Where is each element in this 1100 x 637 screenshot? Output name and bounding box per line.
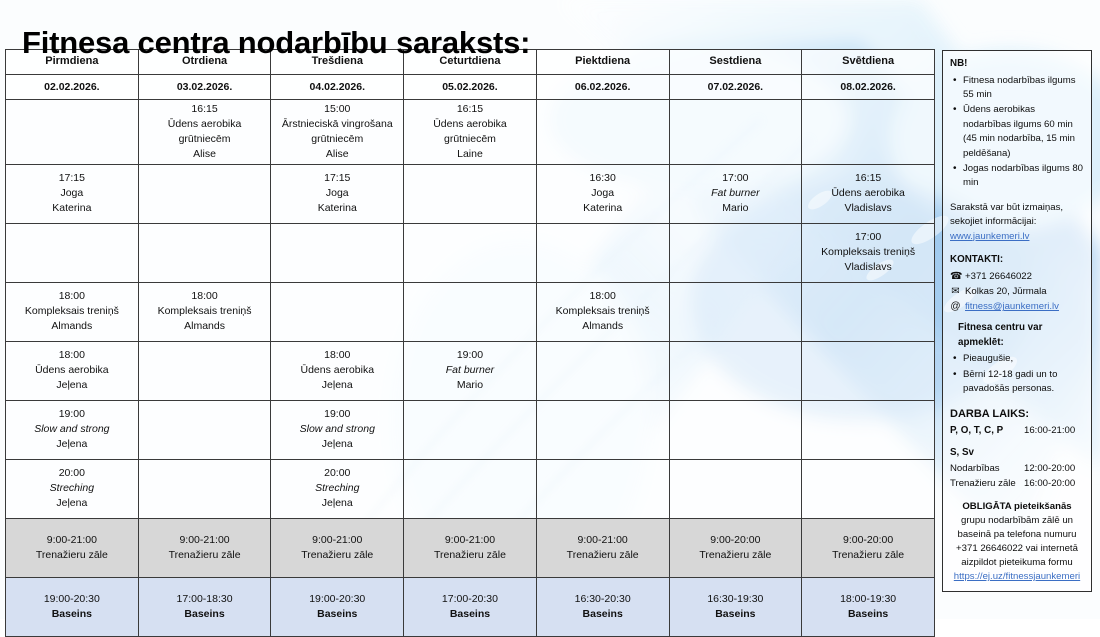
- website-link[interactable]: www.jaunkemeri.lv: [950, 231, 1029, 242]
- class-time: 15:00: [273, 102, 401, 117]
- empty-cell: [802, 400, 935, 459]
- gym-hours-cell: 9:00-21:00Trenažieru zāle: [404, 518, 537, 577]
- class-trainer: Jeļena: [8, 378, 136, 393]
- class-trainer: Almands: [8, 319, 136, 334]
- gym-hours-cell: 9:00-20:00Trenažieru zāle: [802, 518, 935, 577]
- contact-email: @ fitness@jaunkemeri.lv: [950, 300, 1084, 314]
- class-cell: 16:15Ūdens aerobikagrūtniecēmLaine: [404, 100, 537, 165]
- visit-item: Bērni 12-18 gadi un to pavadošās persona…: [950, 368, 1084, 397]
- class-name: Slow and strong: [273, 422, 401, 437]
- hours-weekend-gym: Trenažieru zāle 16:00-20:00: [950, 477, 1084, 491]
- hours-weekend-classes: Nodarbības 12:00-20:00: [950, 462, 1084, 476]
- class-cell: 15:00Ārstnieciskā vingrošanagrūtniecēmAl…: [271, 100, 404, 165]
- facility-label: Trenažieru zāle: [672, 548, 800, 563]
- empty-cell: [6, 223, 139, 282]
- date-cell: 07.02.2026.: [669, 75, 802, 100]
- class-cell: 20:00StrechingJeļena: [6, 459, 139, 518]
- page-title: Fitnesa centra nodarbību saraksts:: [22, 25, 530, 61]
- pool-hours-cell: 17:00-18:30Baseins: [138, 577, 271, 636]
- class-time: 18:00: [8, 348, 136, 363]
- class-trainer: Vladislavs: [804, 201, 932, 216]
- empty-cell: [536, 100, 669, 165]
- class-time: 16:15: [141, 102, 269, 117]
- class-time: 16:15: [804, 171, 932, 186]
- class-name: Ārstnieciskā vingrošana: [273, 117, 401, 132]
- visit-list: Pieaugušie, Bērni 12-18 gadi un to pavad…: [950, 352, 1084, 396]
- schedule-table: Pirmdiena Otrdiena Trešdiena Ceturtdiena…: [5, 49, 935, 637]
- class-cell: 19:00Slow and strongJeļena: [6, 400, 139, 459]
- empty-cell: [802, 459, 935, 518]
- class-trainer: Jeļena: [273, 496, 401, 511]
- empty-cell: [802, 341, 935, 400]
- facility-time: 9:00-21:00: [406, 533, 534, 548]
- date-cell: 03.02.2026.: [138, 75, 271, 100]
- nb-item: Jogas nodarbības ilgums 80 min: [950, 162, 1084, 191]
- class-name: Ūdens aerobika: [273, 363, 401, 378]
- contact-phone: ☎ +371 26646022: [950, 270, 1084, 284]
- gym-hours-cell: 9:00-21:00Trenažieru zāle: [536, 518, 669, 577]
- facility-time: 19:00-20:30: [273, 592, 401, 607]
- class-trainer: Alise: [141, 147, 269, 162]
- class-cell: 16:30JogaKaterina: [536, 164, 669, 223]
- class-cell: 16:15Ūdens aerobikaVladislavs: [802, 164, 935, 223]
- class-cell: 18:00Ūdens aerobikaJeļena: [6, 341, 139, 400]
- class-time: 17:00: [672, 171, 800, 186]
- facility-label: Baseins: [406, 607, 534, 622]
- empty-cell: [802, 100, 935, 165]
- hours-weekend-gym-value: 16:00-20:00: [1024, 477, 1075, 491]
- booking-note-rest: grupu nodarbībām zālē un baseinā pa tele…: [956, 515, 1078, 568]
- schedule-slot-row: 20:00StrechingJeļena20:00StrechingJeļena: [6, 459, 935, 518]
- class-cell: 16:15Ūdens aerobikagrūtniecēmAlise: [138, 100, 271, 165]
- at-icon: @: [950, 300, 961, 314]
- facility-label: Baseins: [8, 607, 136, 622]
- class-time: 17:15: [8, 171, 136, 186]
- gym-hours-cell: 9:00-21:00Trenažieru zāle: [271, 518, 404, 577]
- class-name: Kompleksais treniņš: [8, 304, 136, 319]
- class-time: 17:15: [273, 171, 401, 186]
- class-name: Fat burner: [672, 186, 800, 201]
- gym-hours-cell: 9:00-21:00Trenažieru zāle: [138, 518, 271, 577]
- facility-label: Baseins: [804, 607, 932, 622]
- class-cell: 17:00Kompleksais treniņšVladislavs: [802, 223, 935, 282]
- class-name: Streching: [8, 481, 136, 496]
- gym-hours-row: 9:00-21:00Trenažieru zāle9:00-21:00Trena…: [6, 518, 935, 577]
- hours-weekday-value: 16:00-21:00: [1024, 424, 1075, 441]
- nb-heading: NB!: [950, 57, 1084, 72]
- facility-time: 16:30-20:30: [539, 592, 667, 607]
- facility-label: Trenažieru zāle: [273, 548, 401, 563]
- empty-cell: [404, 164, 537, 223]
- empty-cell: [669, 282, 802, 341]
- date-cell: 05.02.2026.: [404, 75, 537, 100]
- empty-cell: [669, 400, 802, 459]
- facility-time: 17:00-20:30: [406, 592, 534, 607]
- hours-weekend-classes-value: 12:00-20:00: [1024, 462, 1075, 476]
- empty-cell: [802, 282, 935, 341]
- phone-icon: ☎: [950, 270, 961, 284]
- facility-time: 9:00-20:00: [804, 533, 932, 548]
- nb-list: Fitnesa nodarbības ilgums 55 min Ūdens a…: [950, 74, 1084, 191]
- empty-cell: [271, 282, 404, 341]
- contacts-heading: KONTAKTI:: [950, 253, 1084, 268]
- hours-heading: DARBA LAIKS:: [950, 406, 1084, 423]
- phone-number: +371 26646022: [965, 270, 1032, 284]
- facility-label: Trenažieru zāle: [539, 548, 667, 563]
- empty-cell: [536, 223, 669, 282]
- nb-item: Ūdens aerobikas nodarbības ilgums 60 min…: [950, 103, 1084, 161]
- class-name: Kompleksais treniņš: [539, 304, 667, 319]
- date-row: 02.02.2026. 03.02.2026. 04.02.2026. 05.0…: [6, 75, 935, 100]
- facility-label: Baseins: [141, 607, 269, 622]
- class-name: Fat burner: [406, 363, 534, 378]
- class-cell: 17:15JogaKaterina: [271, 164, 404, 223]
- class-name: Ūdens aerobika: [141, 117, 269, 132]
- pool-hours-cell: 16:30-19:30Baseins: [669, 577, 802, 636]
- schedule-slot-row: 19:00Slow and strongJeļena19:00Slow and …: [6, 400, 935, 459]
- empty-cell: [536, 400, 669, 459]
- class-cell: 18:00Kompleksais treniņšAlmands: [6, 282, 139, 341]
- pool-hours-cell: 16:30-20:30Baseins: [536, 577, 669, 636]
- day-header-svetdiena: Svētdiena: [802, 50, 935, 75]
- class-trainer: Mario: [406, 378, 534, 393]
- class-name: Ūdens aerobika: [804, 186, 932, 201]
- class-trainer: Jeļena: [273, 437, 401, 452]
- class-trainer: Laine: [406, 147, 534, 162]
- empty-cell: [669, 100, 802, 165]
- class-name-line2: grūtniecēm: [273, 132, 401, 147]
- class-time: 19:00: [8, 407, 136, 422]
- date-cell: 02.02.2026.: [6, 75, 139, 100]
- facility-time: 16:30-19:30: [672, 592, 800, 607]
- class-cell: 19:00Fat burnerMario: [404, 341, 537, 400]
- facility-time: 9:00-21:00: [273, 533, 401, 548]
- schedule-slot-row: 18:00Ūdens aerobikaJeļena18:00Ūdens aero…: [6, 341, 935, 400]
- pool-hours-cell: 17:00-20:30Baseins: [404, 577, 537, 636]
- class-name: Slow and strong: [8, 422, 136, 437]
- class-trainer: Katerina: [273, 201, 401, 216]
- facility-label: Trenažieru zāle: [8, 548, 136, 563]
- email-link[interactable]: fitness@jaunkemeri.lv: [965, 300, 1059, 314]
- class-time: 18:00: [141, 289, 269, 304]
- class-name-line2: grūtniecēm: [141, 132, 269, 147]
- class-time: 19:00: [406, 348, 534, 363]
- class-name: Ūdens aerobika: [8, 363, 136, 378]
- schedule-body: 16:15Ūdens aerobikagrūtniecēmAlise15:00Ā…: [6, 100, 935, 637]
- changes-note-text: Sarakstā var būt izmaiņas, sekojiet info…: [950, 202, 1063, 227]
- gym-hours-cell: 9:00-21:00Trenažieru zāle: [6, 518, 139, 577]
- empty-cell: [669, 459, 802, 518]
- empty-cell: [536, 341, 669, 400]
- empty-cell: [271, 223, 404, 282]
- empty-cell: [138, 459, 271, 518]
- class-time: 18:00: [8, 289, 136, 304]
- hours-weekend-classes-label: Nodarbības: [950, 462, 1024, 476]
- class-trainer: Jeļena: [273, 378, 401, 393]
- empty-cell: [669, 223, 802, 282]
- class-cell: 18:00Kompleksais treniņšAlmands: [536, 282, 669, 341]
- class-trainer: Vladislavs: [804, 260, 932, 275]
- pool-hours-cell: 18:00-19:30Baseins: [802, 577, 935, 636]
- class-cell: 18:00Kompleksais treniņšAlmands: [138, 282, 271, 341]
- empty-cell: [404, 400, 537, 459]
- booking-form-link[interactable]: https://ej.uz/fitnessjaunkemeri: [954, 571, 1080, 582]
- class-trainer: Jeļena: [8, 496, 136, 511]
- facility-label: Baseins: [539, 607, 667, 622]
- empty-cell: [138, 341, 271, 400]
- empty-cell: [404, 223, 537, 282]
- class-time: 16:15: [406, 102, 534, 117]
- class-trainer: Mario: [672, 201, 800, 216]
- class-name: Joga: [273, 186, 401, 201]
- class-time: 17:00: [804, 230, 932, 245]
- class-cell: 17:15JogaKaterina: [6, 164, 139, 223]
- date-cell: 04.02.2026.: [271, 75, 404, 100]
- empty-cell: [138, 223, 271, 282]
- facility-time: 19:00-20:30: [8, 592, 136, 607]
- schedule-slot-row: 17:00Kompleksais treniņšVladislavs: [6, 223, 935, 282]
- nb-item: Fitnesa nodarbības ilgums 55 min: [950, 74, 1084, 103]
- pool-hours-row: 19:00-20:30Baseins17:00-18:30Baseins19:0…: [6, 577, 935, 636]
- class-name: Kompleksais treniņš: [141, 304, 269, 319]
- empty-cell: [404, 282, 537, 341]
- facility-label: Trenažieru zāle: [804, 548, 932, 563]
- class-trainer: Katerina: [8, 201, 136, 216]
- empty-cell: [138, 164, 271, 223]
- hours-weekend-label: S, Sv: [950, 446, 1084, 461]
- class-name: Streching: [273, 481, 401, 496]
- class-name: Joga: [8, 186, 136, 201]
- class-trainer: Jeļena: [8, 437, 136, 452]
- class-name-line2: grūtniecēm: [406, 132, 534, 147]
- empty-cell: [536, 459, 669, 518]
- class-cell: 18:00Ūdens aerobikaJeļena: [271, 341, 404, 400]
- class-time: 16:30: [539, 171, 667, 186]
- facility-time: 9:00-21:00: [539, 533, 667, 548]
- hours-weekend-gym-label: Trenažieru zāle: [950, 477, 1024, 491]
- facility-label: Trenažieru zāle: [141, 548, 269, 563]
- envelope-icon: ✉: [950, 285, 961, 299]
- empty-cell: [138, 400, 271, 459]
- class-cell: 19:00Slow and strongJeļena: [271, 400, 404, 459]
- date-cell: 06.02.2026.: [536, 75, 669, 100]
- facility-time: 9:00-20:00: [672, 533, 800, 548]
- facility-time: 17:00-18:30: [141, 592, 269, 607]
- hours-weekday-label: P, O, T, C, P: [950, 424, 1024, 439]
- address-text: Kolkas 20, Jūrmala: [965, 285, 1047, 299]
- class-trainer: Almands: [141, 319, 269, 334]
- info-panel: NB! Fitnesa nodarbības ilgums 55 min Ūde…: [942, 50, 1092, 592]
- empty-cell: [669, 341, 802, 400]
- visit-item: Pieaugušie,: [950, 352, 1084, 366]
- schedule-slot-row: 16:15Ūdens aerobikagrūtniecēmAlise15:00Ā…: [6, 100, 935, 165]
- class-name: Kompleksais treniņš: [804, 245, 932, 260]
- schedule-slot-row: 17:15JogaKaterina17:15JogaKaterina16:30J…: [6, 164, 935, 223]
- facility-time: 9:00-21:00: [141, 533, 269, 548]
- class-trainer: Almands: [539, 319, 667, 334]
- day-header-sestdiena: Sestdiena: [669, 50, 802, 75]
- changes-note: Sarakstā var būt izmaiņas, sekojiet info…: [950, 201, 1084, 244]
- facility-time: 18:00-19:30: [804, 592, 932, 607]
- class-time: 20:00: [8, 466, 136, 481]
- class-cell: 17:00Fat burnerMario: [669, 164, 802, 223]
- hours-weekday: P, O, T, C, P 16:00-21:00: [950, 424, 1084, 441]
- empty-cell: [404, 459, 537, 518]
- pool-hours-cell: 19:00-20:30Baseins: [6, 577, 139, 636]
- booking-note-bold: OBLIGĀTA pieteikšanās: [962, 501, 1071, 512]
- class-name: Ūdens aerobika: [406, 117, 534, 132]
- day-header-piektdiena: Piektdiena: [536, 50, 669, 75]
- schedule-table-container: Pirmdiena Otrdiena Trešdiena Ceturtdiena…: [5, 49, 935, 637]
- contact-address: ✉ Kolkas 20, Jūrmala: [950, 285, 1084, 299]
- gym-hours-cell: 9:00-20:00Trenažieru zāle: [669, 518, 802, 577]
- facility-label: Baseins: [273, 607, 401, 622]
- class-cell: 20:00StrechingJeļena: [271, 459, 404, 518]
- empty-cell: [6, 100, 139, 165]
- class-time: 19:00: [273, 407, 401, 422]
- class-time: 18:00: [273, 348, 401, 363]
- pool-hours-cell: 19:00-20:30Baseins: [271, 577, 404, 636]
- class-trainer: Alise: [273, 147, 401, 162]
- facility-label: Trenažieru zāle: [406, 548, 534, 563]
- class-name: Joga: [539, 186, 667, 201]
- booking-note: OBLIGĀTA pieteikšanās grupu nodarbībām z…: [950, 500, 1084, 584]
- class-time: 18:00: [539, 289, 667, 304]
- class-time: 20:00: [273, 466, 401, 481]
- date-cell: 08.02.2026.: [802, 75, 935, 100]
- facility-time: 9:00-21:00: [8, 533, 136, 548]
- visit-heading: Fitnesa centru var apmeklēt:: [950, 321, 1084, 350]
- class-trainer: Katerina: [539, 201, 667, 216]
- facility-label: Baseins: [672, 607, 800, 622]
- schedule-slot-row: 18:00Kompleksais treniņšAlmands18:00Komp…: [6, 282, 935, 341]
